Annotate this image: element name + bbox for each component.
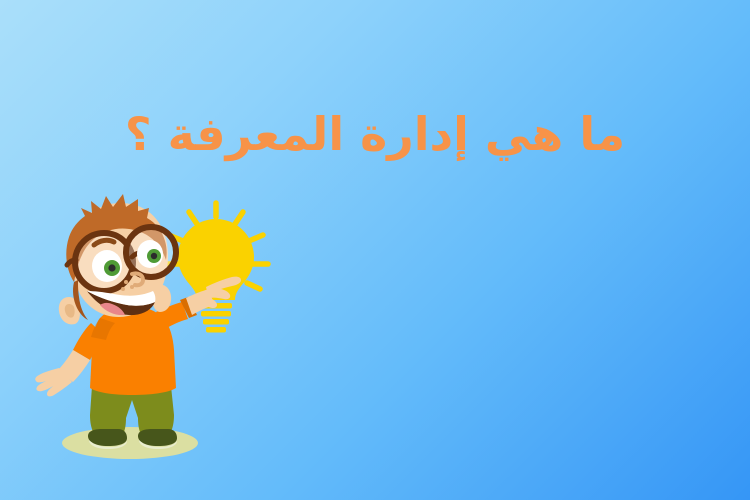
slide-canvas: ما هي إدارة المعرفة ؟ bbox=[0, 0, 750, 500]
ground-shadow bbox=[62, 427, 198, 459]
eye-left-pupil bbox=[108, 264, 115, 271]
eye-right-pupil bbox=[151, 253, 157, 259]
illustration-boy-with-lightbulb bbox=[28, 190, 278, 475]
page-title: ما هي إدارة المعرفة ؟ bbox=[0, 103, 750, 165]
shoe-right bbox=[138, 429, 177, 446]
shoe-left bbox=[88, 429, 127, 446]
